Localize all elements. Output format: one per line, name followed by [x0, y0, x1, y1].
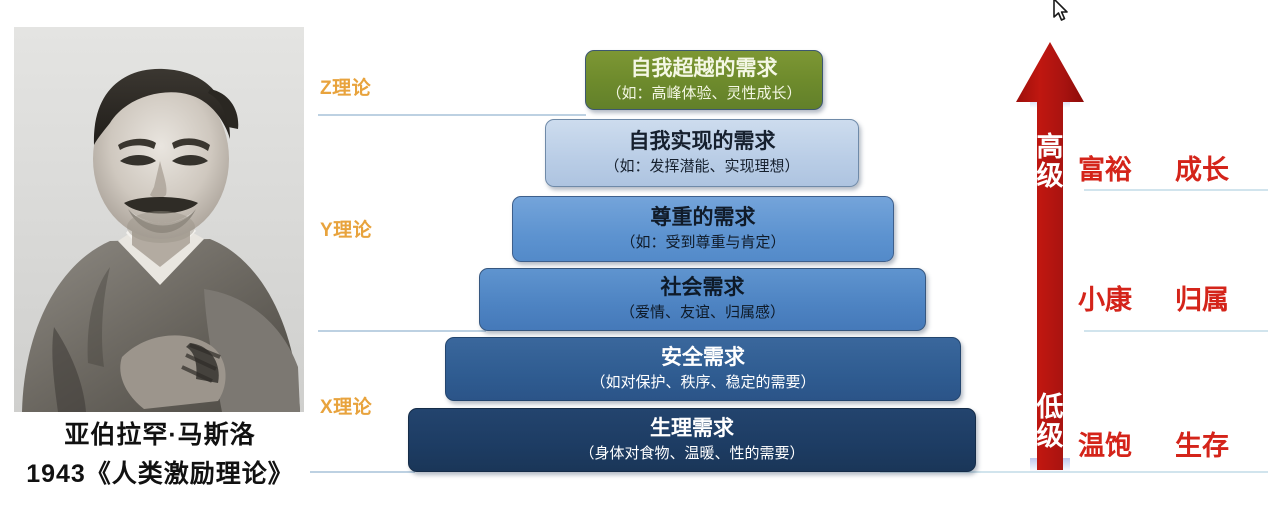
- label-economic-subsistence: 温饱: [1078, 424, 1132, 463]
- slide-canvas: 亚伯拉罕·马斯洛 1943《人类激励理论》 Z理论 Y理论 X理论 自我超越的需…: [0, 0, 1268, 532]
- level-detail: （如：高峰体验、灵性成长）: [606, 83, 801, 105]
- theory-label-z: Z理论: [320, 73, 371, 100]
- portrait-caption: 亚伯拉罕·马斯洛 1943《人类激励理论》: [0, 418, 320, 492]
- arrow-label-high: 高级: [1033, 133, 1067, 191]
- theory-label-y: Y理论: [320, 215, 372, 242]
- theory-label-x: X理论: [320, 392, 372, 419]
- divider-line-middle: [318, 330, 486, 332]
- caption-name: 亚伯拉罕·马斯洛: [0, 418, 320, 452]
- label-motive-belonging: 归属: [1175, 278, 1229, 317]
- label-motive-survival: 生存: [1175, 424, 1229, 463]
- pyramid-level-safety[interactable]: 安全需求 （如对保护、秩序、稳定的需要）: [445, 337, 961, 401]
- level-detail: （身体对食物、温暖、性的需要）: [579, 443, 804, 465]
- divider-line-bottom: [310, 471, 415, 473]
- pyramid-level-physiological[interactable]: 生理需求 （身体对食物、温暖、性的需要）: [408, 408, 976, 472]
- divider-line-upper-right: [1084, 189, 1268, 191]
- level-title: 尊重的需求: [651, 205, 756, 231]
- pyramid-level-esteem[interactable]: 尊重的需求 （如：受到尊重与肯定）: [512, 196, 894, 262]
- pyramid-level-social[interactable]: 社会需求 （爱情、友谊、归属感）: [479, 268, 926, 331]
- level-title: 生理需求: [650, 416, 734, 442]
- level-title: 自我超越的需求: [631, 56, 778, 82]
- level-title: 社会需求: [661, 275, 745, 301]
- portrait-container: [14, 27, 304, 412]
- level-detail: （爱情、友谊、归属感）: [620, 302, 785, 324]
- label-motive-growth: 成长: [1175, 148, 1229, 187]
- pyramid-level-self-actualization[interactable]: 自我实现的需求 （如：发挥潜能、实现理想）: [545, 119, 859, 187]
- level-detail: （如对保护、秩序、稳定的需要）: [590, 372, 815, 394]
- level-title: 自我实现的需求: [629, 129, 776, 155]
- level-detail: （如：受到尊重与肯定）: [620, 232, 785, 254]
- level-title: 安全需求: [661, 345, 745, 371]
- level-detail: （如：发挥潜能、实现理想）: [604, 156, 799, 178]
- abraham-maslow-portrait: [14, 27, 304, 412]
- divider-line-middle-right: [1084, 330, 1268, 332]
- label-economic-moderate: 小康: [1078, 278, 1132, 317]
- label-economic-affluent: 富裕: [1078, 148, 1132, 187]
- caption-work: 1943《人类激励理论》: [0, 456, 320, 492]
- mouse-cursor-icon: [1052, 0, 1070, 29]
- divider-line-top: [318, 114, 586, 116]
- pyramid-level-self-transcendence[interactable]: 自我超越的需求 （如：高峰体验、灵性成长）: [585, 50, 823, 110]
- arrow-label-low: 低级: [1033, 393, 1067, 451]
